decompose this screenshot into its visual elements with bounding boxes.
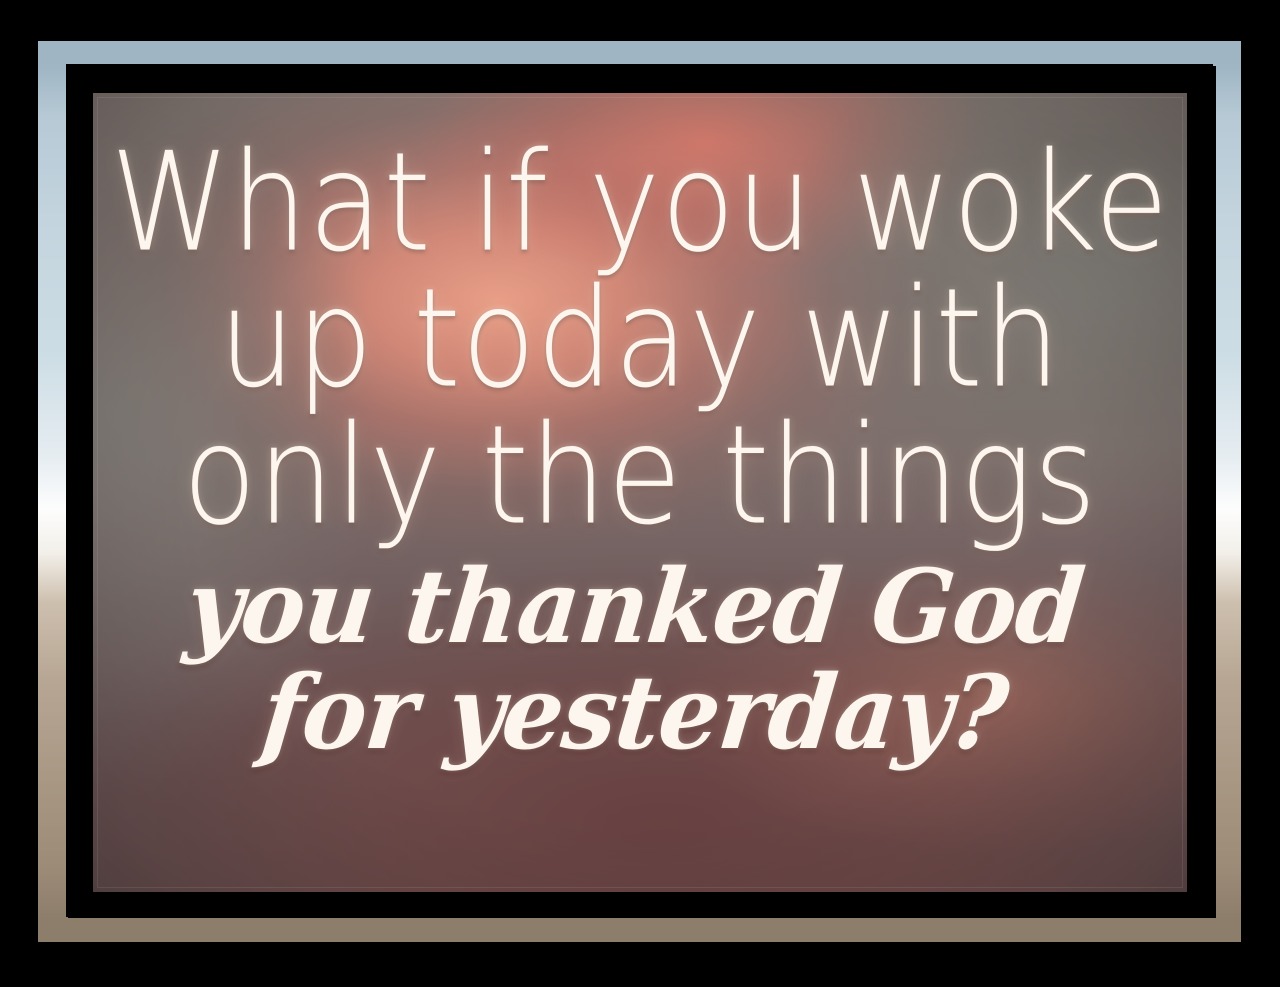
quote-line-2: up today with — [98, 269, 1181, 408]
quote-photo: What if you woke up today with only the … — [93, 93, 1187, 892]
quote-line-4: you thanked God — [93, 556, 1187, 658]
quote-text-block: What if you woke up today with only the … — [93, 93, 1187, 892]
quote-line-3: only the things — [98, 406, 1181, 545]
poster-canvas: What if you woke up today with only the … — [0, 0, 1280, 987]
quote-line-1: What if you woke — [98, 133, 1181, 272]
quote-line-5: for yesterday? — [93, 662, 1187, 764]
